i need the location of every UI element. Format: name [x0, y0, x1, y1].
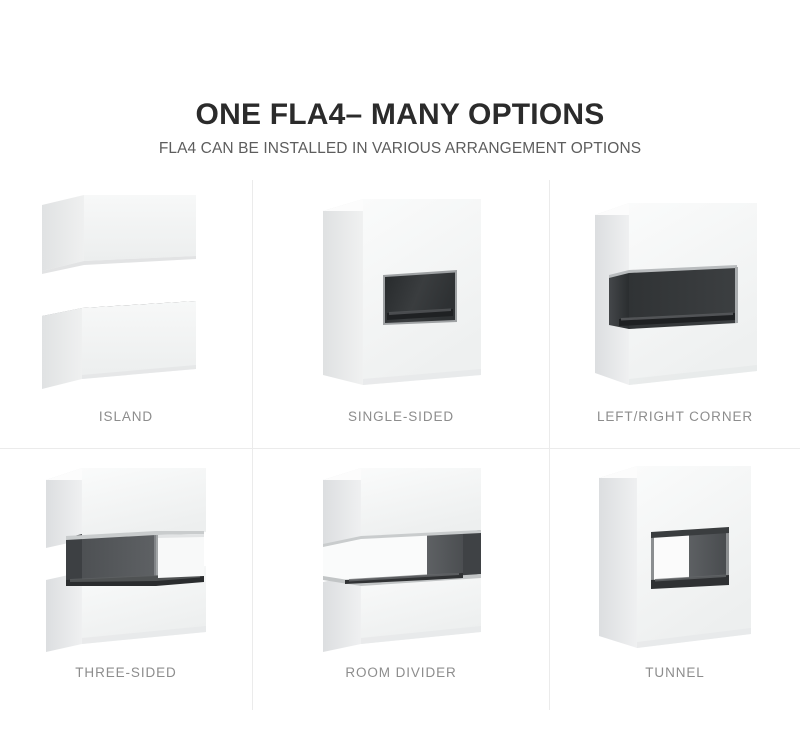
option-label-left-right-corner: LEFT/RIGHT CORNER [597, 408, 753, 448]
options-grid: ISLAND [0, 180, 800, 710]
fireplace-three-sided-icon [36, 454, 216, 659]
option-cell-tunnel[interactable]: TUNNEL [550, 449, 800, 710]
option-image-island [0, 180, 252, 408]
option-label-island: ISLAND [99, 408, 153, 448]
option-label-room-divider: ROOM DIVIDER [345, 664, 456, 710]
fireplace-corner-icon [585, 189, 765, 399]
fireplace-single-sided-icon [311, 189, 491, 399]
page-header: ONE FLA4– MANY OPTIONS FLA4 CAN BE INSTA… [0, 96, 800, 160]
option-label-tunnel: TUNNEL [645, 664, 704, 710]
option-cell-three-sided[interactable]: THREE-SIDED [0, 449, 253, 710]
options-page: ONE FLA4– MANY OPTIONS FLA4 CAN BE INSTA… [0, 0, 800, 750]
option-image-tunnel [550, 449, 800, 664]
fireplace-island-icon [36, 189, 216, 399]
option-cell-single-sided[interactable]: SINGLE-SIDED [253, 180, 550, 449]
option-image-left-right-corner [550, 180, 800, 408]
option-cell-room-divider[interactable]: ROOM DIVIDER [253, 449, 550, 710]
option-cell-island[interactable]: ISLAND [0, 180, 253, 449]
option-image-single-sided [253, 180, 549, 408]
option-label-single-sided: SINGLE-SIDED [348, 408, 454, 448]
option-image-three-sided [0, 449, 252, 664]
page-title: ONE FLA4– MANY OPTIONS [0, 96, 800, 134]
fireplace-tunnel-icon [585, 454, 765, 659]
option-image-room-divider [253, 449, 549, 664]
option-label-three-sided: THREE-SIDED [75, 664, 176, 710]
fireplace-room-divider-icon [311, 454, 491, 659]
option-cell-left-right-corner[interactable]: LEFT/RIGHT CORNER [550, 180, 800, 449]
page-subtitle: FLA4 CAN BE INSTALLED IN VARIOUS ARRANGE… [0, 138, 800, 160]
